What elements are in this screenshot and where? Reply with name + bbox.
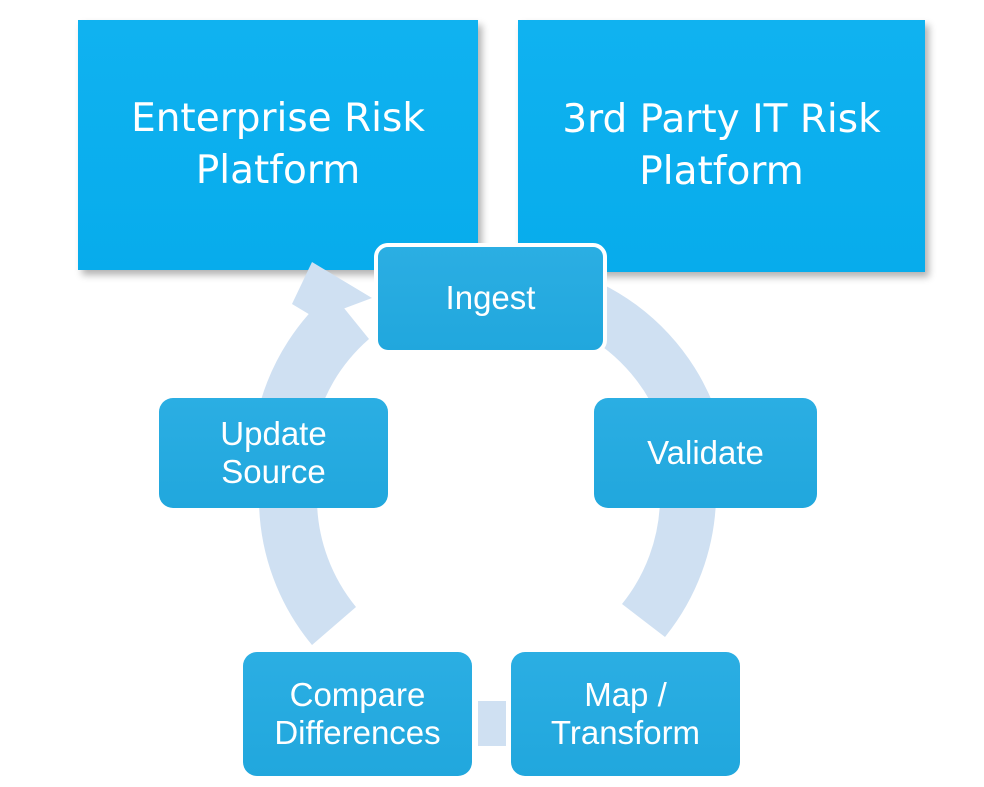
stage-box-compare-differences[interactable]: Compare Differences — [243, 652, 472, 776]
stage-label-ingest: Ingest — [436, 279, 546, 317]
arc-compare-to-update-source — [259, 502, 356, 645]
platform-label-third-party-it-risk: 3rd Party IT Risk Platform — [518, 94, 925, 198]
stage-label-compare-differences: Compare Differences — [264, 676, 450, 753]
stage-label-validate: Validate — [637, 434, 774, 472]
stage-box-validate[interactable]: Validate — [594, 398, 817, 508]
stage-label-map-transform: Map / Transform — [541, 676, 710, 753]
diagram-canvas: Enterprise Risk Platform 3rd Party IT Ri… — [0, 0, 984, 787]
platform-box-enterprise-risk[interactable]: Enterprise Risk Platform — [78, 20, 478, 270]
platform-label-enterprise-risk: Enterprise Risk Platform — [78, 93, 478, 197]
stage-box-ingest[interactable]: Ingest — [374, 243, 607, 354]
stage-box-update-source[interactable]: Update Source — [159, 398, 388, 508]
platform-box-third-party-it-risk[interactable]: 3rd Party IT Risk Platform — [518, 20, 925, 272]
arc-validate-to-map-transform — [622, 500, 716, 637]
stage-box-map-transform[interactable]: Map / Transform — [511, 652, 740, 776]
bottom-connector-segment — [478, 701, 506, 746]
stage-label-update-source: Update Source — [210, 415, 336, 492]
return-arrow-icon — [261, 262, 372, 417]
